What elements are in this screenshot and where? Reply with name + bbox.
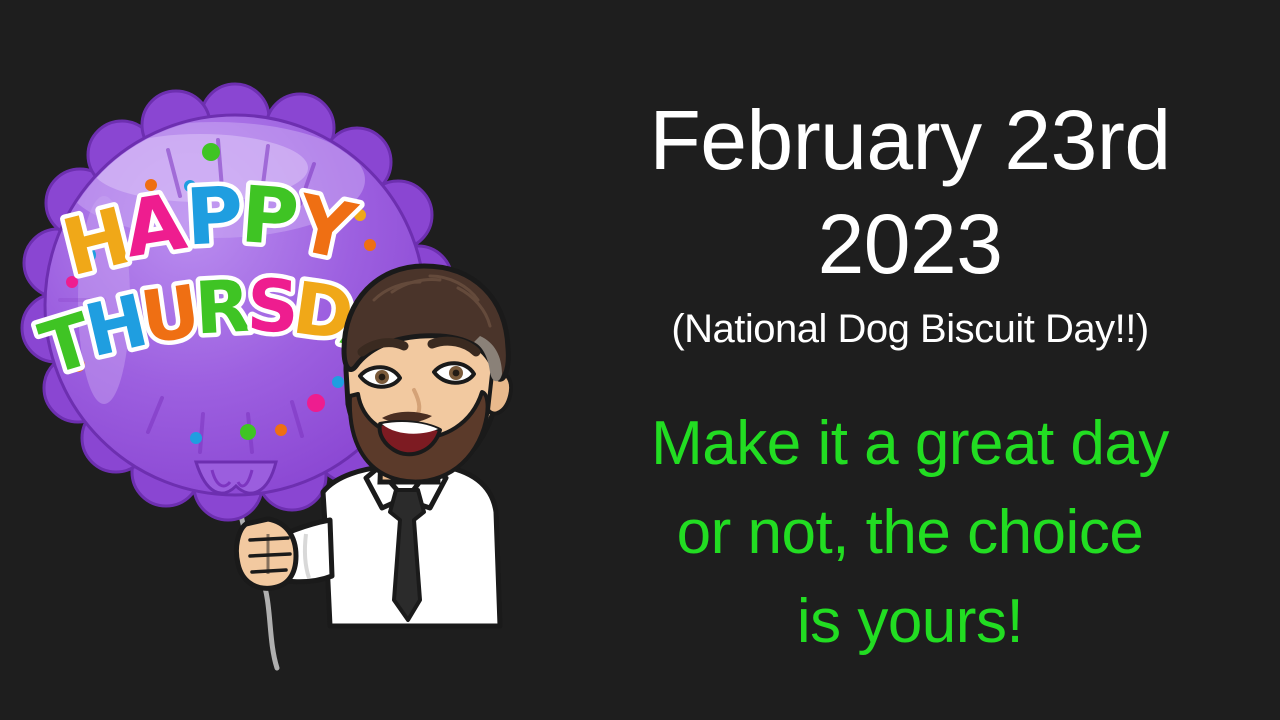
- slide-canvas: H A P P Y T H U R S D A Y: [0, 0, 1280, 720]
- date-observance-note: (National Dog Biscuit Day!!): [540, 305, 1280, 353]
- balloon-letter-p1: P: [184, 171, 246, 264]
- message-line-1: Make it a great day: [540, 411, 1280, 477]
- date-year: 2023: [540, 196, 1280, 292]
- message-line-2: or not, the choice: [540, 500, 1280, 566]
- balloon-letter-r: R: [193, 264, 253, 351]
- bitmoji-eye-right: [434, 363, 474, 383]
- message-line-3: is yours!: [540, 589, 1280, 655]
- bitmoji-hand: [236, 519, 296, 588]
- date-headline: February 23rd: [540, 92, 1280, 188]
- bitmoji-eye-left: [360, 367, 400, 387]
- happy-thursday-graphic: H A P P Y T H U R S D A Y: [0, 0, 540, 720]
- text-column: February 23rd 2023 (National Dog Biscuit…: [540, 0, 1280, 720]
